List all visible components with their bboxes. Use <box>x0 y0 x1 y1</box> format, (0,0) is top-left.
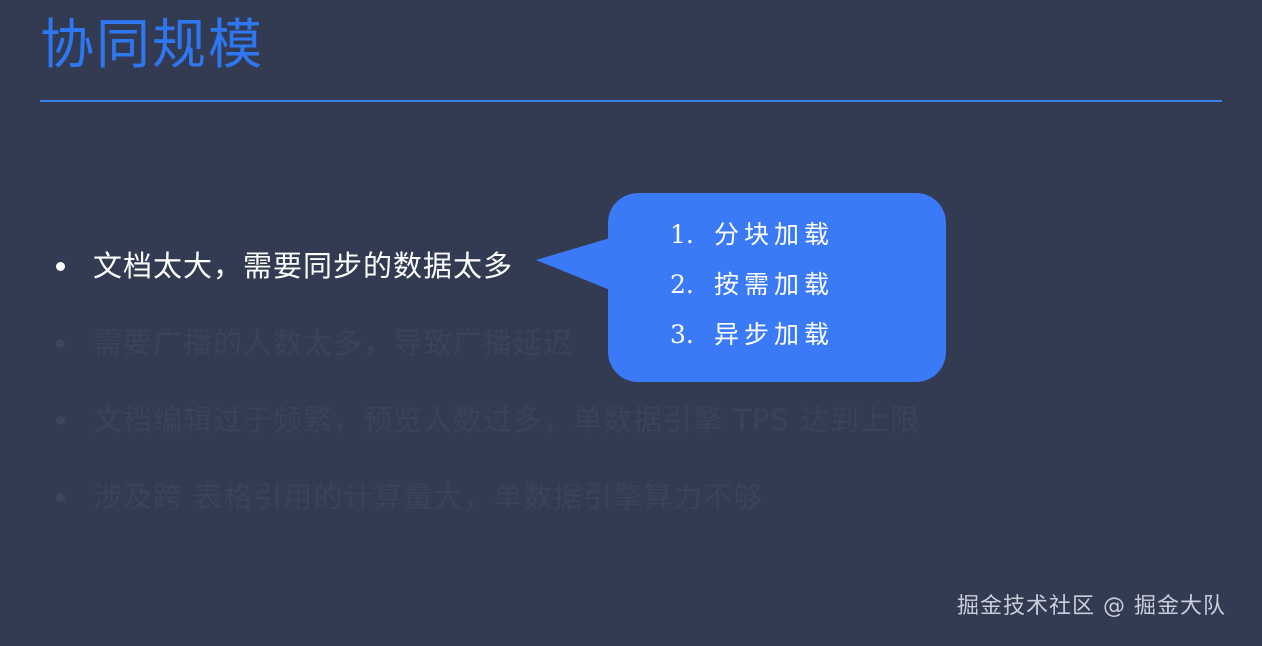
callout-list-item: 2. 按需加载 <box>608 265 946 315</box>
page-title: 协同规模 <box>40 14 264 76</box>
bullet-dot-icon <box>56 339 65 348</box>
callout-list: 1. 分块加载 2. 按需加载 3. 异步加载 <box>608 215 946 365</box>
bullet-dot-icon <box>56 262 65 271</box>
bullet-dot-icon <box>56 493 65 502</box>
list-item: 文档编辑过于频繁，预览人数过多，单数据引擎 TPS 达到上限 <box>56 382 1156 459</box>
callout-item-number: 1. <box>670 220 714 249</box>
bullet-text: 文档编辑过于频繁，预览人数过多，单数据引擎 TPS 达到上限 <box>93 405 920 437</box>
callout-list-item: 3. 异步加载 <box>608 315 946 365</box>
callout-item-number: 2. <box>670 270 714 299</box>
callout-bubble: 1. 分块加载 2. 按需加载 3. 异步加载 <box>608 193 946 382</box>
callout-tail-icon <box>536 238 610 290</box>
list-item: 涉及跨 表格引用的计算量大，单数据引擎算力不够 <box>56 459 1156 536</box>
callout-item-label: 分块加载 <box>714 215 834 251</box>
callout-item-label: 按需加载 <box>714 265 834 301</box>
bullet-dot-icon <box>56 416 65 425</box>
bullet-text: 涉及跨 表格引用的计算量大，单数据引擎算力不够 <box>93 482 763 514</box>
callout-item-number: 3. <box>670 320 714 349</box>
slide-root: 协同规模 文档太大，需要同步的数据太多 需要广播的人数太多，导致广播延迟 文档编… <box>0 0 1262 646</box>
list-item: 需要广播的人数太多，导致广播延迟 <box>56 305 1156 382</box>
callout-list-item: 1. 分块加载 <box>608 215 946 265</box>
footer-watermark: 掘金技术社区 @ 掘金大队 <box>957 588 1226 620</box>
title-divider <box>40 100 1222 102</box>
bullet-text: 需要广播的人数太多，导致广播延迟 <box>93 328 573 360</box>
bullet-text: 文档太大，需要同步的数据太多 <box>93 251 513 283</box>
callout-item-label: 异步加载 <box>714 315 834 351</box>
